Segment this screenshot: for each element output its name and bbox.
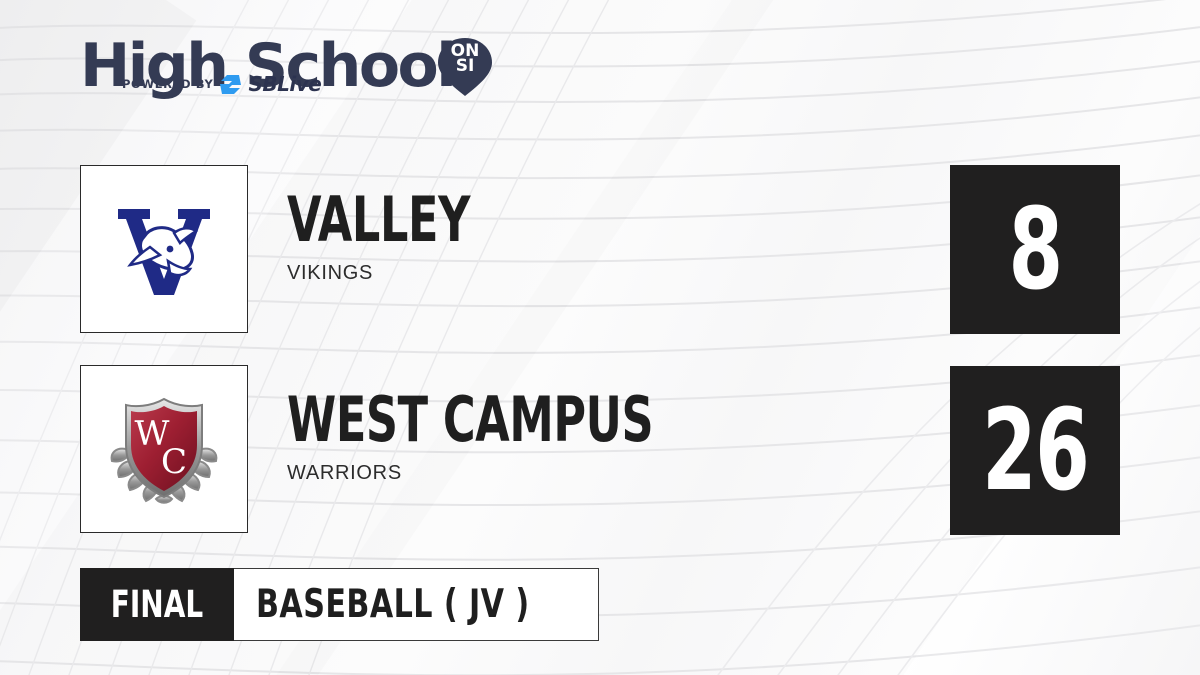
team-mascot-home: VIKINGS [287, 262, 516, 285]
on-si-line-2: SI [434, 59, 496, 74]
west-campus-warriors-crest: W C [98, 383, 230, 515]
score-box-home: 8 [950, 165, 1120, 334]
sblive-wordmark: SBLive [248, 72, 321, 96]
status-badge: FINAL [80, 568, 234, 641]
team-logo-box-away: W C [80, 365, 248, 533]
score-box-away: 26 [950, 366, 1120, 535]
score-value-away: 26 [982, 395, 1088, 507]
team-text-home: VALLEY VIKINGS [287, 191, 516, 285]
sport-label-box: BASEBALL ( JV ) [234, 568, 599, 641]
team-logo-box-home [80, 165, 248, 333]
valley-vikings-logo [98, 183, 230, 315]
score-value-home: 8 [1008, 194, 1061, 306]
on-si-pin-icon: ON SI [434, 36, 496, 98]
team-name-home: VALLEY [287, 191, 470, 248]
team-name-away: WEST CAMPUS [287, 391, 653, 448]
scoreboard-graphic: High School ON SI POWERED BY SBLive [0, 0, 1200, 675]
powered-by-label: POWERED BY [122, 77, 213, 91]
sport-label: BASEBALL ( JV ) [256, 582, 530, 627]
game-status-bar: FINAL BASEBALL ( JV ) [80, 568, 599, 641]
sblive-bolt-icon [220, 75, 241, 94]
team-text-away: WEST CAMPUS WARRIORS [287, 391, 745, 485]
powered-by-block: POWERED BY SBLive [122, 72, 321, 96]
svg-text:C: C [161, 442, 187, 482]
status-label: FINAL [111, 583, 203, 626]
team-mascot-away: WARRIORS [287, 462, 745, 485]
